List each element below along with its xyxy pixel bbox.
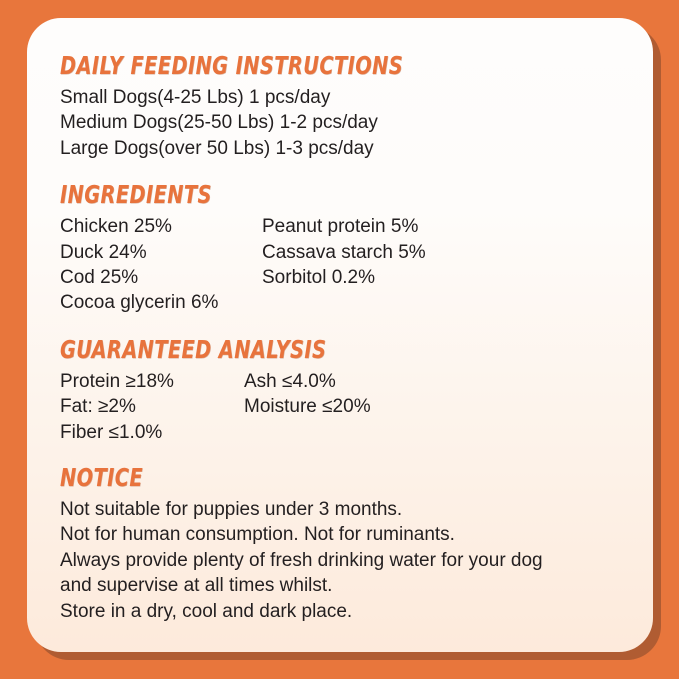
feeding-line: Small Dogs(4-25 Lbs) 1 pcs/day: [60, 85, 633, 110]
notice-line: and supervise at all times whilst.: [60, 573, 633, 598]
ingredient-item: Duck 24%: [60, 240, 262, 265]
product-label: DAILY FEEDING INSTRUCTIONS Small Dogs(4-…: [0, 0, 679, 679]
ingredients-column-left: Chicken 25% Duck 24% Cod 25% Cocoa glyce…: [60, 214, 262, 316]
ingredient-item: Cocoa glycerin 6%: [60, 290, 262, 315]
ingredient-item: Peanut protein 5%: [262, 214, 426, 239]
analysis-item: Fiber ≤1.0%: [60, 420, 244, 445]
analysis-column-right: Ash ≤4.0% Moisture ≤20%: [244, 369, 371, 420]
analysis-body: Protein ≥18% Fat: ≥2% Fiber ≤1.0% Ash ≤4…: [60, 369, 633, 445]
notice-line: Not for human consumption. Not for rumin…: [60, 522, 633, 547]
label-card: DAILY FEEDING INSTRUCTIONS Small Dogs(4-…: [27, 18, 653, 652]
heading-guaranteed-analysis: GUARANTEED ANALYSIS: [60, 336, 553, 364]
ingredient-item: Cod 25%: [60, 265, 262, 290]
feeding-body: Small Dogs(4-25 Lbs) 1 pcs/day Medium Do…: [60, 85, 633, 161]
heading-notice: NOTICE: [60, 464, 553, 492]
section-guaranteed-analysis: GUARANTEED ANALYSIS Protein ≥18% Fat: ≥2…: [60, 336, 633, 445]
feeding-line: Large Dogs(over 50 Lbs) 1-3 pcs/day: [60, 136, 633, 161]
ingredient-item: Cassava starch 5%: [262, 240, 426, 265]
feeding-line: Medium Dogs(25-50 Lbs) 1-2 pcs/day: [60, 110, 633, 135]
analysis-item: Moisture ≤20%: [244, 394, 371, 419]
ingredients-column-right: Peanut protein 5% Cassava starch 5% Sorb…: [262, 214, 426, 290]
ingredient-item: Sorbitol 0.2%: [262, 265, 426, 290]
notice-line: Always provide plenty of fresh drinking …: [60, 548, 633, 573]
notice-body: Not suitable for puppies under 3 months.…: [60, 497, 633, 624]
notice-line: Store in a dry, cool and dark place.: [60, 599, 633, 624]
label-content: DAILY FEEDING INSTRUCTIONS Small Dogs(4-…: [60, 52, 633, 624]
heading-daily-feeding-instructions: DAILY FEEDING INSTRUCTIONS: [60, 52, 553, 80]
notice-line: Not suitable for puppies under 3 months.: [60, 497, 633, 522]
analysis-item: Ash ≤4.0%: [244, 369, 371, 394]
section-notice: NOTICE Not suitable for puppies under 3 …: [60, 464, 633, 624]
analysis-item: Protein ≥18%: [60, 369, 244, 394]
section-daily-feeding-instructions: DAILY FEEDING INSTRUCTIONS Small Dogs(4-…: [60, 52, 633, 161]
ingredient-item: Chicken 25%: [60, 214, 262, 239]
analysis-column-left: Protein ≥18% Fat: ≥2% Fiber ≤1.0%: [60, 369, 244, 445]
ingredients-body: Chicken 25% Duck 24% Cod 25% Cocoa glyce…: [60, 214, 633, 316]
analysis-item: Fat: ≥2%: [60, 394, 244, 419]
heading-ingredients: INGREDIENTS: [60, 181, 553, 209]
section-ingredients: INGREDIENTS Chicken 25% Duck 24% Cod 25%…: [60, 181, 633, 316]
